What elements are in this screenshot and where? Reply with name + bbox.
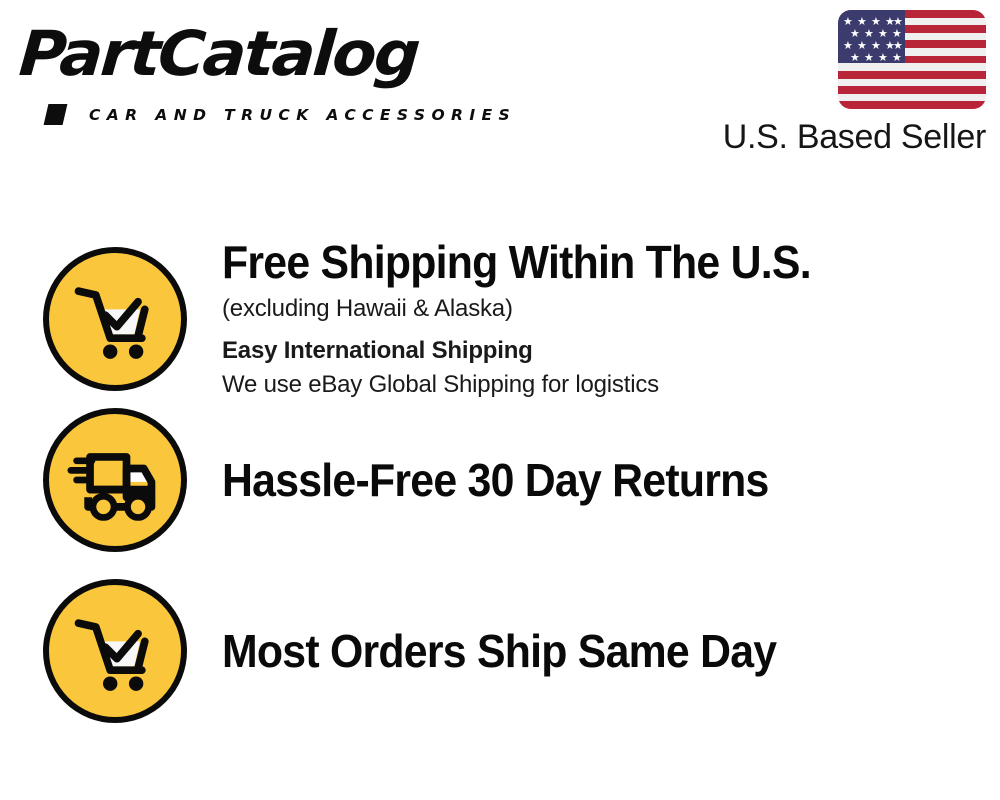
feature-row: Most Orders Ship Same Day	[0, 579, 1000, 723]
feature-title: Most Orders Ship Same Day	[222, 625, 927, 677]
brand-logo[interactable]: PartCatalog CAR AND TRUCK ACCESSORIES	[22, 18, 492, 113]
feature-row: Hassle-Free 30 Day Returns	[0, 408, 1000, 552]
brand-tagline: CAR AND TRUCK ACCESSORIES	[89, 106, 516, 124]
feature-row: Free Shipping Within The U.S. (excluding…	[0, 236, 1000, 402]
delivery-truck-icon	[43, 408, 187, 552]
brand-wordmark: PartCatalog	[17, 18, 421, 90]
shopping-cart-check-icon	[43, 579, 187, 723]
shopping-cart-check-icon	[43, 247, 187, 391]
brand-slash-icon	[44, 104, 68, 125]
feature-text: Most Orders Ship Same Day	[222, 625, 1000, 677]
feature-subtitle: (excluding Hawaii & Alaska)	[222, 292, 980, 326]
page-header: PartCatalog CAR AND TRUCK ACCESSORIES ★ …	[0, 0, 1000, 175]
feature-text: Hassle-Free 30 Day Returns	[222, 454, 1000, 506]
us-based-seller-badge: ★ ★ ★ ★ ★ ★ ★ ★ ★ ★ ★ ★ ★ ★ ★ ★ ★ ★ U.S.…	[696, 10, 986, 156]
feature-title: Free Shipping Within The U.S.	[222, 236, 927, 288]
feature-title: Hassle-Free 30 Day Returns	[222, 454, 927, 506]
feature-secondary-heading: Easy International Shipping	[222, 334, 980, 368]
flag-canton: ★ ★ ★ ★ ★ ★ ★ ★ ★ ★ ★ ★ ★ ★ ★ ★ ★ ★	[838, 10, 905, 63]
us-flag-icon: ★ ★ ★ ★ ★ ★ ★ ★ ★ ★ ★ ★ ★ ★ ★ ★ ★ ★	[838, 10, 986, 109]
us-based-seller-label: U.S. Based Seller	[696, 118, 986, 156]
feature-secondary-text: We use eBay Global Shipping for logistic…	[222, 368, 980, 402]
brand-tagline-row: CAR AND TRUCK ACCESSORIES	[46, 104, 516, 125]
feature-text: Free Shipping Within The U.S. (excluding…	[222, 236, 1000, 402]
